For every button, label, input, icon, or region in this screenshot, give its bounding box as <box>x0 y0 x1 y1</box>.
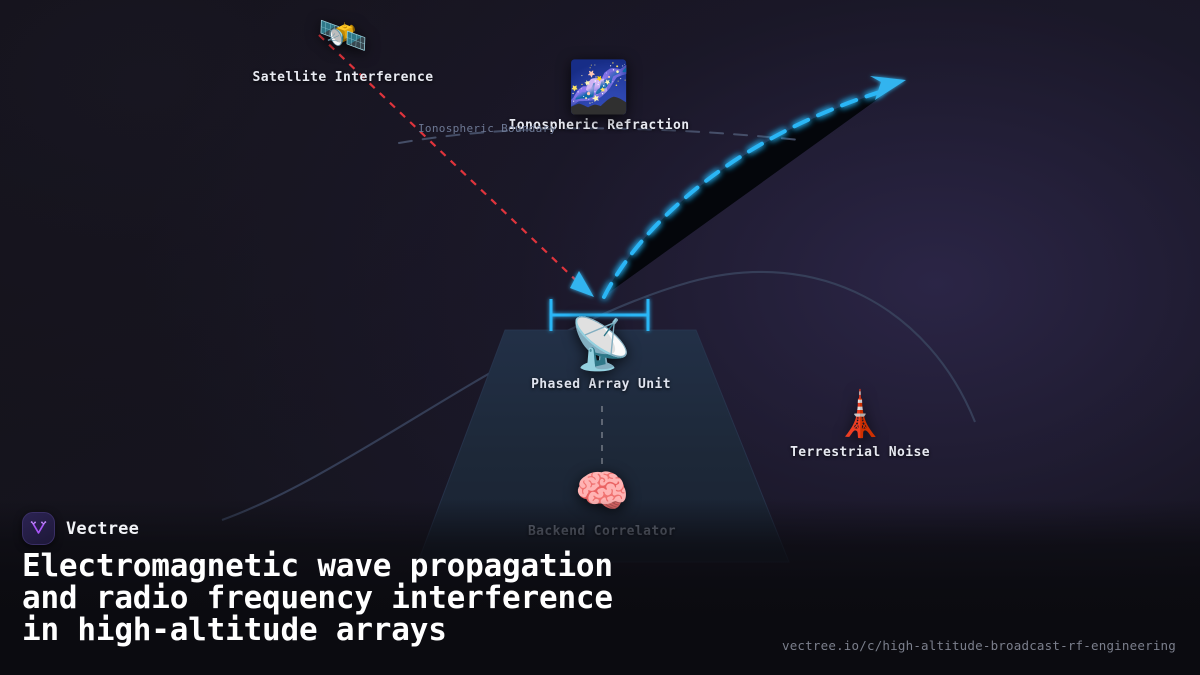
brand-lockup[interactable]: Vectree <box>22 512 139 545</box>
node-satellite-label: Satellite Interference <box>253 70 434 85</box>
footer-url: vectree.io/c/high-altitude-broadcast-rf-… <box>782 638 1176 653</box>
brand-name: Vectree <box>66 519 139 539</box>
satellite-downlink-arrowhead <box>570 271 594 297</box>
node-phased-array[interactable]: 📡 Phased Array Unit <box>531 319 671 392</box>
page-title: Electromagnetic wave propagation and rad… <box>22 550 762 646</box>
node-phased-array-label: Phased Array Unit <box>531 377 671 392</box>
node-backend-correlator[interactable]: 🧠 Backend Correlator <box>528 470 676 539</box>
node-terrestrial-noise[interactable]: 🗼 Terrestrial Noise <box>790 393 930 460</box>
node-satellite[interactable]: 🛰️ Satellite Interference <box>253 16 434 85</box>
satellite-icon: 🛰️ <box>318 16 368 56</box>
node-terrestrial-noise-label: Terrestrial Noise <box>790 445 930 460</box>
tokyo-tower-icon: 🗼 <box>833 393 888 437</box>
milky-way-icon: 🌌 <box>568 62 630 112</box>
node-backend-correlator-label: Backend Correlator <box>528 524 676 539</box>
edge-label-ionospheric-boundary: Ionospheric Boundary <box>418 122 556 135</box>
vectree-v-logo-icon <box>29 519 48 538</box>
brain-icon: 🧠 <box>575 470 630 514</box>
diagram-canvas: 🛰️ Satellite Interference 🌌 Ionospheric … <box>0 0 1200 675</box>
satellite-dish-icon: 📡 <box>570 319 632 369</box>
brand-badge <box>22 512 55 545</box>
